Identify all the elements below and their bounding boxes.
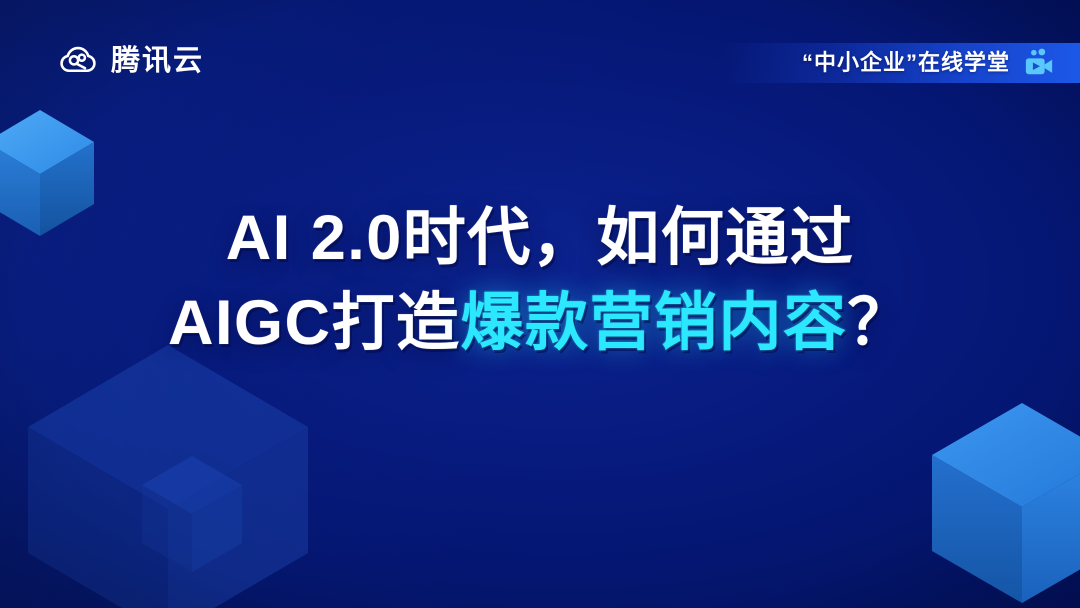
badge-label: “中小企业”在线学堂	[802, 52, 1010, 74]
headline-line-2-suffix: ？	[848, 288, 913, 358]
headline-line-1: AI 2.0时代，如何通过	[0, 198, 1080, 279]
isometric-cube-bottom-right	[930, 395, 1080, 608]
online-academy-badge[interactable]: “中小企业”在线学堂	[722, 43, 1080, 83]
headline-line-2: AIGC打造爆款营销内容？	[0, 283, 1080, 364]
poster-slide: 腾讯云 “中小企业”在线学堂 AI 2.0时代，如何通过 AIGC打造爆款营销内…	[0, 0, 1080, 608]
page-title: AI 2.0时代，如何通过 AIGC打造爆款营销内容？	[0, 198, 1080, 363]
brand-logo[interactable]: 腾讯云	[58, 41, 204, 81]
tencent-cloud-logo-icon	[58, 41, 98, 81]
headline-line-2-prefix: AIGC打造	[168, 288, 461, 358]
headline-line-2-accent: 爆款营销内容	[461, 288, 848, 358]
video-camera-icon	[1024, 48, 1054, 78]
brand-name: 腾讯云	[111, 47, 204, 76]
